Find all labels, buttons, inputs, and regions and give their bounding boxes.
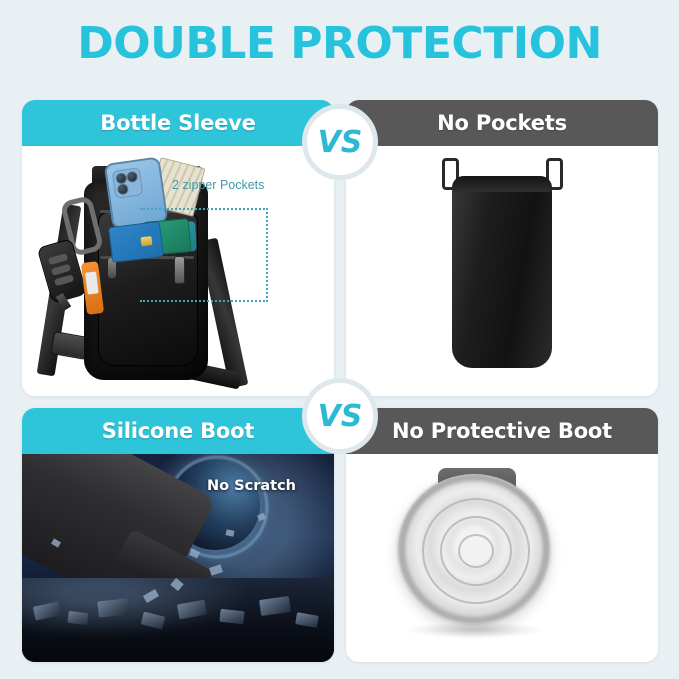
rock — [141, 612, 165, 630]
card-no-protective-boot: No Protective Boot — [346, 408, 658, 662]
card-image-silicone-boot: No Scratch — [22, 454, 334, 662]
silicone-boot-photo: No Scratch — [22, 454, 334, 662]
keychain-label — [85, 271, 99, 294]
rock — [259, 596, 291, 616]
rock — [33, 601, 61, 620]
card-image-bottle-sleeve: 2 zipper Pockets — [22, 146, 334, 396]
camera-lens-icon — [115, 172, 127, 184]
key-button — [51, 264, 71, 276]
page-title: DOUBLE PROTECTION — [0, 18, 679, 70]
card-header-no-pockets: No Pockets — [346, 100, 658, 146]
card-image-no-pockets — [346, 146, 658, 396]
card-header-silicone-boot: Silicone Boot — [22, 408, 334, 454]
camera-lens-icon — [117, 183, 129, 195]
rock — [97, 598, 129, 617]
key-button — [48, 253, 68, 265]
damaged-bottle-photo — [346, 454, 658, 662]
sleeve-product-photo: 2 zipper Pockets — [22, 146, 334, 396]
drop-shadow — [404, 622, 546, 638]
vs-badge-top: VS — [302, 104, 378, 180]
plain-black-sleeve — [452, 176, 552, 368]
vs-badge-bottom: VS — [302, 378, 378, 454]
worn-scuffed-edge — [398, 474, 550, 624]
card-header-no-protective-boot: No Protective Boot — [346, 408, 658, 454]
rock — [177, 600, 207, 620]
card-header-bottle-sleeve: Bottle Sleeve — [22, 100, 334, 146]
rock — [295, 612, 319, 628]
card-bottle-sleeve: Bottle Sleeve — [22, 100, 334, 396]
card-no-pockets: No Pockets — [346, 100, 658, 396]
sleeve-top-rim — [452, 176, 552, 192]
no-scratch-annotation: No Scratch — [207, 478, 296, 494]
impact-debris — [209, 564, 223, 575]
camera-lens-icon — [126, 171, 138, 183]
rock — [67, 611, 88, 626]
zipper-pockets-annotation: 2 zipper Pockets — [172, 178, 264, 192]
phone-camera-module — [112, 167, 144, 199]
plain-sleeve-photo — [346, 146, 658, 396]
rock — [219, 609, 244, 624]
key-button — [54, 274, 74, 286]
zipper-pockets-callout-box — [140, 208, 268, 302]
card-image-no-protective-boot — [346, 454, 658, 662]
card-silicone-boot: Silicone Boot — [22, 408, 334, 662]
